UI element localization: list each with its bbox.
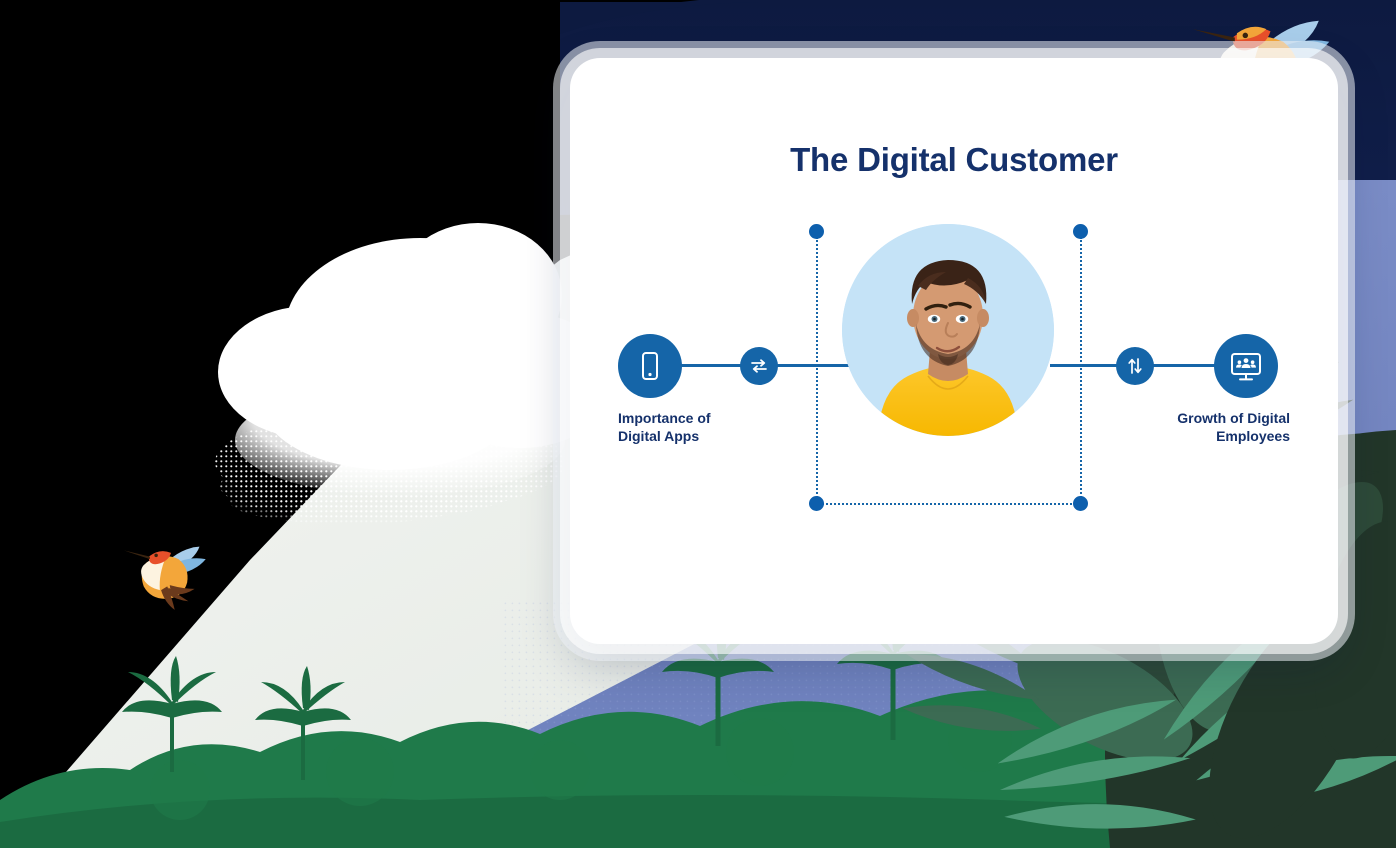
selection-handle-top-right[interactable] [1073,224,1088,239]
selection-handle-bottom-left[interactable] [809,496,824,511]
horizontal-exchange-arrows-icon [749,356,769,376]
selection-box[interactable] [816,231,1082,505]
selection-line-bottom [818,503,1080,505]
node-label-digital-apps: Importance of Digital Apps [618,410,818,446]
exchange-badge[interactable] [740,347,778,385]
selection-handle-bottom-right[interactable] [1073,496,1088,511]
selection-line-right [1080,237,1082,505]
smartphone-icon [633,349,667,383]
node-digital-apps[interactable] [618,334,682,398]
node-digital-employees[interactable] [1214,334,1278,398]
selection-line-left [816,237,818,505]
illustration-stage: The Digital Customer Importance of Digit… [0,0,1396,848]
node-label-digital-employees: Growth of Digital Employees [1090,410,1290,446]
slide-card: The Digital Customer Importance of Digit… [570,58,1338,644]
digital-customer-diagram: Importance of Digital Apps [570,58,1338,644]
vertical-transfer-arrows-icon [1125,356,1145,376]
selection-handle-top-left[interactable] [809,224,824,239]
monitor-people-icon [1227,347,1265,385]
transfer-badge[interactable] [1116,347,1154,385]
